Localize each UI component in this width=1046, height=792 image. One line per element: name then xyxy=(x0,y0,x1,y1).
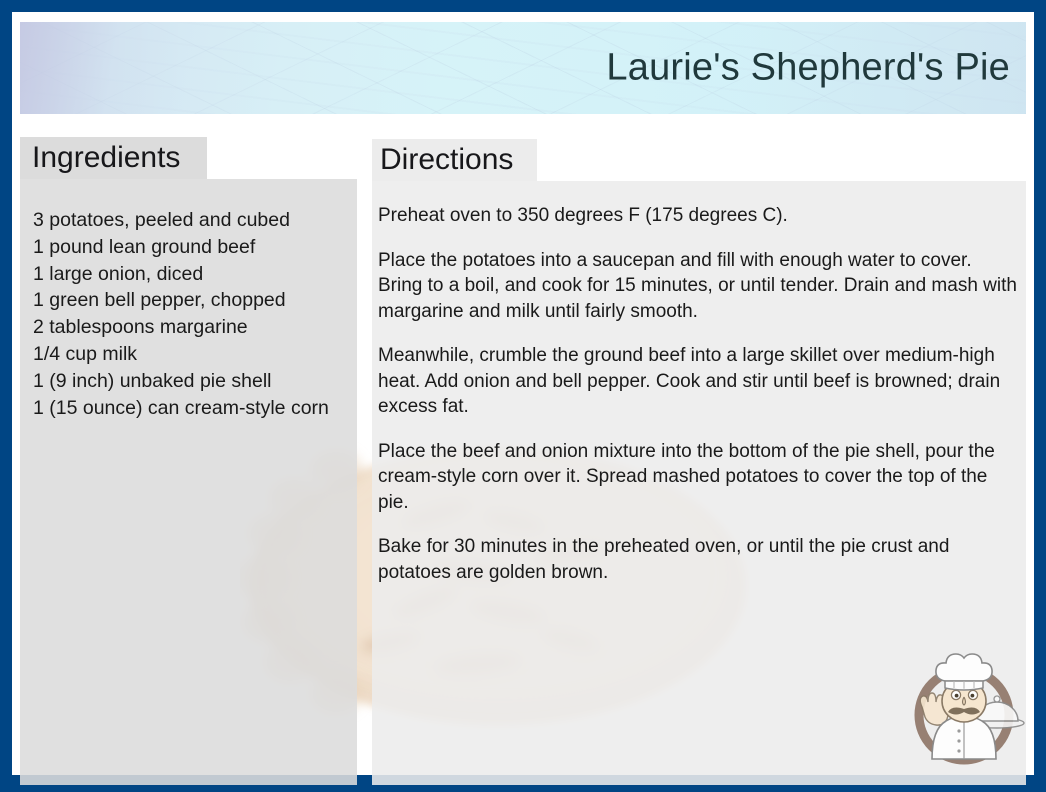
list-item: 1 (15 ounce) can cream-style corn xyxy=(33,395,347,422)
list-item: 3 potatoes, peeled and cubed xyxy=(33,207,347,234)
list-item: 1/4 cup milk xyxy=(33,341,347,368)
directions-heading-label: Directions xyxy=(380,145,513,175)
card-inner-area: Laurie's Shepherd's Pie xyxy=(12,12,1034,775)
direction-step: Preheat oven to 350 degrees F (175 degre… xyxy=(378,203,1020,229)
direction-step: Meanwhile, crumble the ground beef into … xyxy=(378,343,1020,420)
ingredients-heading-tab: Ingredients xyxy=(20,137,207,179)
list-item: 1 green bell pepper, chopped xyxy=(33,287,347,314)
direction-step: Place the potatoes into a saucepan and f… xyxy=(378,248,1020,325)
direction-step: Place the beef and onion mixture into th… xyxy=(378,439,1020,516)
recipe-card: Laurie's Shepherd's Pie xyxy=(0,0,1046,792)
header-banner: Laurie's Shepherd's Pie xyxy=(20,22,1026,114)
directions-heading-tab: Directions xyxy=(372,139,537,181)
list-item: 1 large onion, diced xyxy=(33,261,347,288)
directions-panel: Preheat oven to 350 degrees F (175 degre… xyxy=(372,181,1026,785)
ingredients-heading-label: Ingredients xyxy=(32,143,180,173)
list-item: 2 tablespoons margarine xyxy=(33,314,347,341)
page-title: Laurie's Shepherd's Pie xyxy=(606,47,1010,90)
ingredients-panel: 3 potatoes, peeled and cubed 1 pound lea… xyxy=(20,179,357,785)
list-item: 1 pound lean ground beef xyxy=(33,234,347,261)
direction-step: Bake for 30 minutes in the preheated ove… xyxy=(378,534,1020,585)
list-item: 1 (9 inch) unbaked pie shell xyxy=(33,368,347,395)
